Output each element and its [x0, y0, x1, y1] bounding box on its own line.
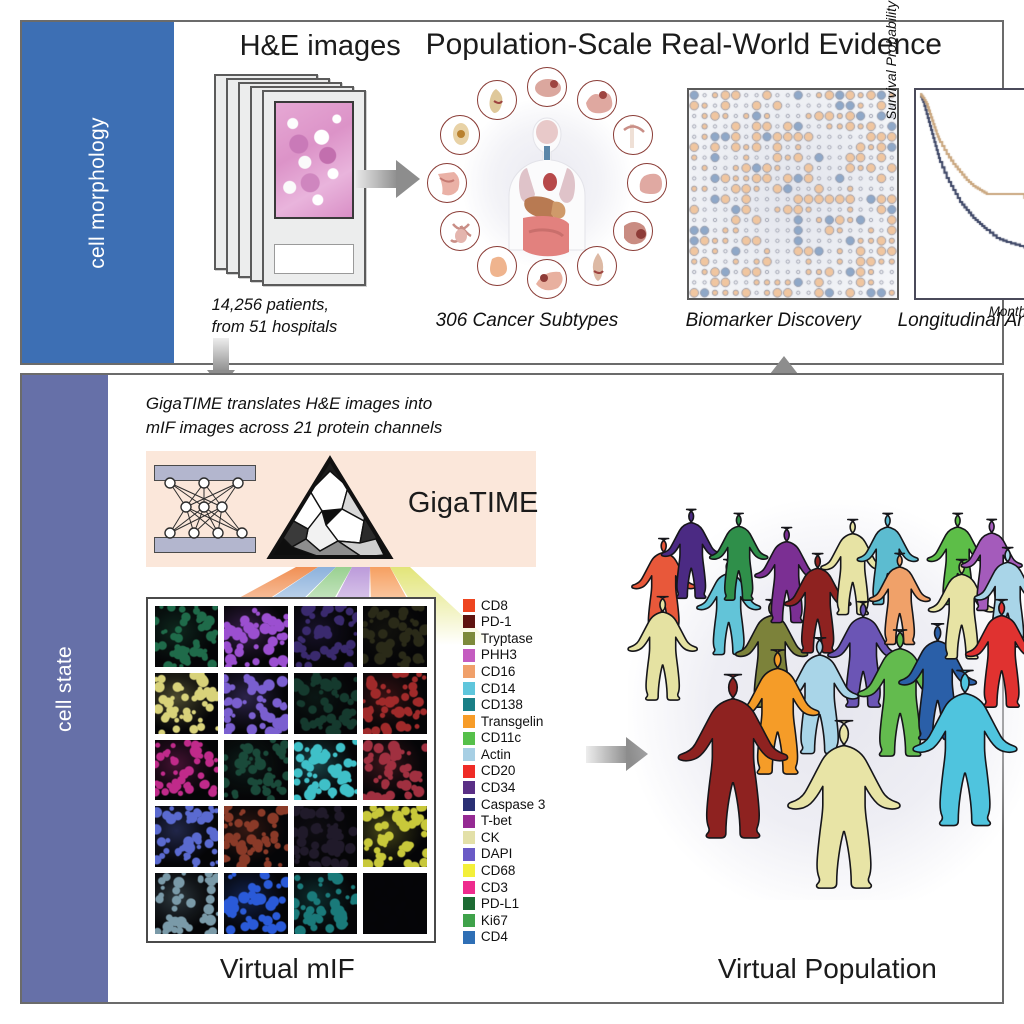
mif-tile-14: [224, 806, 288, 867]
virtual-population-crowd: [598, 490, 1024, 920]
legend-item-pd-l1: PD-L1: [463, 896, 583, 913]
mif-tile-3: [294, 606, 358, 667]
gigatime-description-line2: mIF images across 21 protein channels: [146, 417, 442, 440]
mif-tile-10: [224, 740, 288, 801]
longitudinal-caption: Longitudinal Analysis: [898, 310, 1024, 332]
biomarker-caption: Biomarker Discovery: [686, 310, 861, 332]
organ-icon-2: [577, 80, 617, 120]
mif-tile-12: [363, 740, 427, 801]
legend-item-cd16: CD16: [463, 663, 583, 680]
legend-swatch-icon: [463, 881, 475, 894]
legend-label: CD11c: [481, 731, 521, 745]
legend-swatch-icon: [463, 798, 475, 811]
legend-label: CD20: [481, 764, 516, 778]
legend-swatch-icon: [463, 781, 475, 794]
legend-item-transgelin: Transgelin: [463, 713, 583, 730]
legend-swatch-icon: [463, 698, 475, 711]
organ-icon-4: [627, 163, 667, 203]
legend-swatch-icon: [463, 831, 475, 844]
mif-tile-11: [294, 740, 358, 801]
organ-icon-12: [477, 80, 517, 120]
organ-icon-9: [440, 211, 480, 251]
legend-item-cd14: CD14: [463, 680, 583, 697]
panel-cell-morphology: cell morphology H&E images Population-Sc…: [20, 20, 1004, 365]
legend-item-actin: Actin: [463, 746, 583, 763]
organ-icon-6: [577, 246, 617, 286]
legend-item-tryptase: Tryptase: [463, 630, 583, 647]
subtypes-caption: 306 Cancer Subtypes: [436, 310, 619, 332]
legend-item-cd68: CD68: [463, 863, 583, 880]
organ-icon-10: [427, 163, 467, 203]
protein-channel-legend: CD8PD-1TryptasePHH3CD16CD14CD138Transgel…: [463, 597, 583, 945]
legend-swatch-icon: [463, 632, 475, 645]
sidebar-cell-morphology: cell morphology: [22, 22, 174, 363]
mif-tile-1: [155, 606, 219, 667]
organ-icon-11: [440, 115, 480, 155]
legend-label: PD-L1: [481, 897, 519, 911]
legend-item-cd4: CD4: [463, 929, 583, 946]
organ-icon-5: [613, 211, 653, 251]
legend-label: CD34: [481, 781, 516, 795]
legend-label: PHH3: [481, 648, 517, 662]
legend-item-dapi: DAPI: [463, 846, 583, 863]
legend-label: Caspase 3: [481, 798, 546, 812]
panel-cell-state: cell state GigaTIME translates H&E image…: [20, 373, 1004, 1004]
organ-icon-3: [613, 115, 653, 155]
legend-label: Tryptase: [481, 632, 533, 646]
legend-label: PD-1: [481, 615, 512, 629]
survival-curve-plot: [914, 88, 1024, 300]
legend-item-cd138: CD138: [463, 697, 583, 714]
mif-tile-18: [224, 873, 288, 934]
legend-label: Ki67: [481, 914, 508, 928]
mif-tile-8: [363, 673, 427, 734]
legend-item-cd20: CD20: [463, 763, 583, 780]
virtual-mif-grid: [146, 597, 436, 943]
legend-swatch-icon: [463, 765, 475, 778]
virtual-mif-caption: Virtual mIF: [220, 953, 355, 985]
gigatime-model-name: GigaTIME: [408, 487, 539, 520]
legend-label: CK: [481, 831, 500, 845]
legend-swatch-icon: [463, 665, 475, 678]
legend-swatch-icon: [463, 715, 475, 728]
panel-bottom-body: GigaTIME translates H&E images into mIF …: [108, 375, 1002, 1002]
legend-label: CD138: [481, 698, 523, 712]
legend-item-ck: CK: [463, 829, 583, 846]
legend-item-phh3: PHH3: [463, 647, 583, 664]
legend-swatch-icon: [463, 914, 475, 927]
legend-swatch-icon: [463, 931, 475, 944]
legend-label: CD3: [481, 881, 508, 895]
slide-5-front: [262, 90, 366, 286]
cancer-subtype-organ-ring: [422, 70, 672, 300]
legend-item-cd11c: CD11c: [463, 730, 583, 747]
legend-item-cd34: CD34: [463, 780, 583, 797]
legend-item-cd3: CD3: [463, 879, 583, 896]
population-scale-title: Population-Scale Real-World Evidence: [426, 28, 942, 62]
mif-tile-17: [155, 873, 219, 934]
gigatime-description-line1: GigaTIME translates H&E images into: [146, 393, 432, 416]
legend-item-t-bet: T-bet: [463, 813, 583, 830]
legend-swatch-icon: [463, 732, 475, 745]
sidebar-label-cell-state: cell state: [53, 646, 77, 732]
sidebar-label-cell-morphology: cell morphology: [86, 117, 110, 269]
legend-swatch-icon: [463, 649, 475, 662]
legend-label: Transgelin: [481, 715, 544, 729]
mif-tile-15: [294, 806, 358, 867]
biomarker-dotplot: [687, 88, 899, 300]
legend-swatch-icon: [463, 615, 475, 628]
km-y-axis-label: Survival Probability: [883, 1, 899, 120]
legend-item-cd8: CD8: [463, 597, 583, 614]
legend-label: T-bet: [481, 814, 512, 828]
virtual-population-caption: Virtual Population: [718, 953, 937, 985]
mif-tile-2: [224, 606, 288, 667]
legend-swatch-icon: [463, 897, 475, 910]
legend-label: Actin: [481, 748, 511, 762]
he-images-title: H&E images: [240, 30, 401, 63]
organ-icon-1: [527, 67, 567, 107]
figure-root: cell morphology H&E images Population-Sc…: [0, 0, 1024, 1024]
mif-tile-5: [155, 673, 219, 734]
gigatime-prism-icon: [264, 453, 396, 565]
he-caption-line1: 14,256 patients,: [212, 294, 329, 316]
mif-tile-6: [224, 673, 288, 734]
mif-tile-16: [363, 806, 427, 867]
mif-tile-4: [363, 606, 427, 667]
legend-item-ki67: Ki67: [463, 912, 583, 929]
legend-label: CD4: [481, 930, 508, 944]
legend-swatch-icon: [463, 864, 475, 877]
legend-item-caspase-3: Caspase 3: [463, 796, 583, 813]
mif-tile-19: [294, 873, 358, 934]
legend-swatch-icon: [463, 682, 475, 695]
population-figure-5: [628, 597, 697, 700]
legend-item-pd-1: PD-1: [463, 614, 583, 631]
mif-tile-7: [294, 673, 358, 734]
mif-tile-20: [363, 873, 427, 934]
mif-tile-9: [155, 740, 219, 801]
panel-top-body: H&E images Population-Scale Real-World E…: [174, 22, 1002, 363]
legend-swatch-icon: [463, 848, 475, 861]
legend-label: DAPI: [481, 847, 513, 861]
legend-swatch-icon: [463, 815, 475, 828]
legend-swatch-icon: [463, 748, 475, 761]
he-caption-line2: from 51 hospitals: [212, 316, 338, 338]
mif-tile-13: [155, 806, 219, 867]
legend-label: CD68: [481, 864, 516, 878]
legend-label: CD8: [481, 599, 508, 613]
legend-label: CD16: [481, 665, 516, 679]
legend-label: CD14: [481, 682, 516, 696]
legend-swatch-icon: [463, 599, 475, 612]
neural-network-icon: [154, 461, 256, 557]
gigatime-model-box: GigaTIME: [146, 451, 536, 567]
sidebar-cell-state: cell state: [22, 375, 108, 1002]
organ-icon-8: [477, 246, 517, 286]
organ-icon-7: [527, 259, 567, 299]
